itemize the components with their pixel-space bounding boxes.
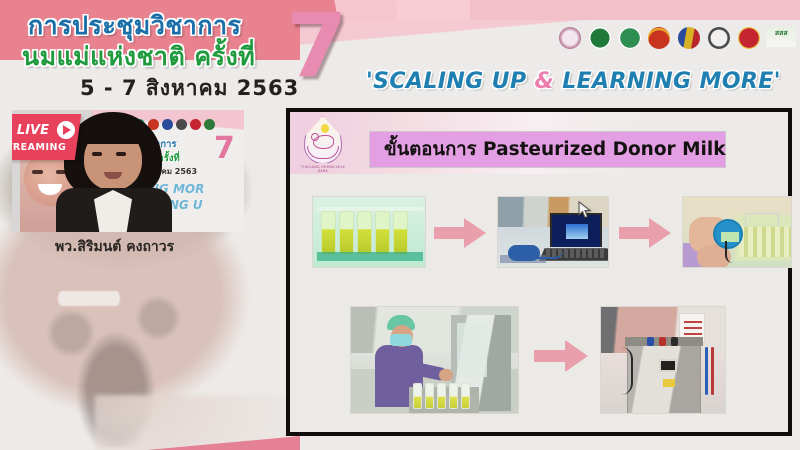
laptop-barcode-scanner-photo: [497, 196, 609, 268]
mouse-cursor: [578, 201, 592, 219]
arrow-step4-to-step5: [532, 338, 590, 374]
slogan-part1: 'SCALING UP: [366, 69, 535, 94]
logo-thai-breastfeeding-centre-icon: [558, 27, 582, 59]
pasteurizer-machine-photo: [600, 306, 726, 414]
edition-number: 7: [286, 2, 347, 90]
streaming-label: STREAMING: [12, 142, 66, 153]
slogan-part2: LEARNING MORE': [554, 69, 781, 94]
slide-title: ขั้นตอนการ Pasteurized Donor Milk: [370, 135, 726, 164]
logo-grey-university-icon: [707, 27, 731, 59]
logo-red-council-icon: [737, 27, 761, 59]
slide-title-box: ขั้นตอนการ Pasteurized Donor Milk: [369, 131, 726, 168]
slide-screenshot: การประชุมวิชาการ นมแม่แห่งชาติ ครั้งที่ …: [0, 0, 800, 450]
logo-caption: THAILAND HUMAN MILK BANK: [296, 165, 350, 173]
sponsor-logo-strip: สสส: [558, 23, 796, 63]
logo-royal-crest-icon: [677, 27, 701, 59]
live-label: LIVE: [17, 123, 49, 138]
logo-green-medical-2-icon: [618, 27, 642, 59]
conference-title-line2: นมแม่แห่งชาติ ครั้งที่: [22, 37, 255, 77]
nurse-loading-bottles-photo: [350, 306, 519, 414]
milk-bottles-rack-photo: [312, 196, 426, 268]
play-icon: [57, 121, 75, 139]
speaker-name-label: พว.สิริมนต์ คงถาวร: [55, 236, 174, 258]
human-milk-bank-logo-icon: THAILAND HUMAN MILK BANK: [296, 115, 350, 175]
logo-green-medical-1-icon: [588, 27, 612, 59]
conference-date: 5 - 7 สิงหาคม 2563: [80, 72, 299, 105]
arrow-step2-to-step3: [617, 216, 673, 250]
digital-thermometer-photo: [682, 196, 792, 268]
logo-thaihealth-icon: สสส: [766, 27, 796, 59]
speaker-video-feed[interactable]: การประชุมวิชาการ นมแม่แห่งชาติ ครั้งที่ …: [12, 110, 244, 232]
logo-red-institute-icon: [647, 27, 671, 59]
arrow-step1-to-step2: [432, 216, 488, 250]
presentation-slide-panel: THAILAND HUMAN MILK BANK ขั้นตอนการ Past…: [286, 108, 792, 436]
conference-slogan: 'SCALING UP & LEARNING MORE': [366, 69, 781, 94]
live-streaming-badge: LIVE STREAMING: [12, 114, 81, 160]
slogan-ampersand: &: [535, 69, 555, 94]
inset-edition-number: 7: [214, 134, 235, 164]
